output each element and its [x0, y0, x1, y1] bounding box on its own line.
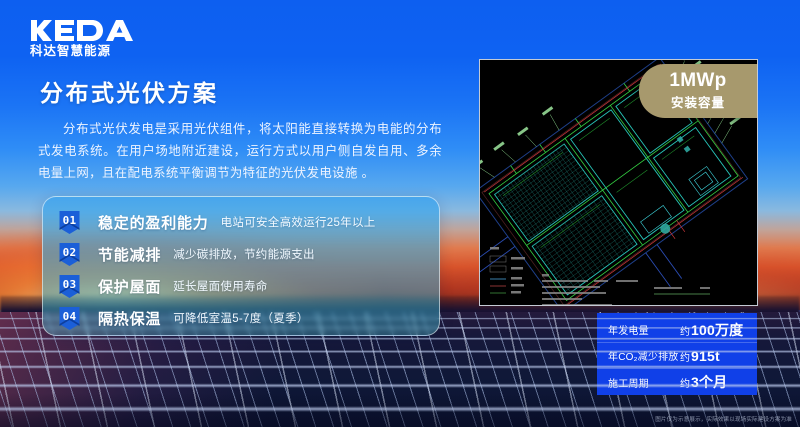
capacity-label: 安装容量 — [671, 92, 725, 111]
stat-number: 3个月 — [691, 372, 727, 392]
ribbon-badge-icon: 01 — [57, 210, 82, 235]
footer-disclaimer: 图片仅为示意展示，实际效果以现场实际建设方案为准 — [655, 415, 792, 423]
brand-logo: 科达智慧能源 — [30, 20, 150, 58]
capacity-badge: 1MWp 安装容量 — [639, 64, 757, 118]
stat-number: 915t — [691, 348, 720, 364]
intro-paragraph: 分布式光伏发电是采用光伏组件，将太阳能直接转换为电能的分布式发电系统。在用户场地… — [38, 118, 442, 184]
stat-prefix: 约 — [680, 323, 690, 338]
feature-number: 02 — [63, 246, 77, 259]
keda-wordmark-icon — [30, 20, 150, 42]
feature-desc: 减少碳排放，节约能源支出 — [173, 246, 315, 262]
ribbon-badge-icon: 04 — [57, 306, 82, 331]
stat-row: 年CO₂减少排放 约 915t — [597, 343, 757, 369]
feature-desc: 延长屋面使用寿命 — [173, 278, 267, 294]
stats-panel: 年发电量 约 100万度 年CO₂减少排放 约 915t 施工周期 约 3个月 — [597, 313, 757, 395]
features-card: 01 稳定的盈利能力 电站可安全高效运行25年以上 02 节能减排 减少碳排放，… — [42, 196, 440, 336]
ribbon-badge-icon: 02 — [57, 242, 82, 267]
stat-value: 约 915t — [680, 348, 720, 364]
ribbon-badge-icon: 03 — [57, 274, 82, 299]
stat-value: 约 3个月 — [680, 372, 727, 392]
stat-label: 年CO₂减少排放 — [608, 348, 680, 363]
stat-row: 施工周期 约 3个月 — [597, 369, 757, 395]
stat-row: 年发电量 约 100万度 — [597, 317, 757, 343]
feature-item-04[interactable]: 04 隔热保温 可降低室温5-7度（夏季） — [43, 302, 439, 334]
stat-prefix: 约 — [680, 375, 690, 390]
stat-value: 约 100万度 — [680, 320, 743, 340]
feature-number: 04 — [63, 310, 77, 323]
feature-item-03[interactable]: 03 保护屋面 延长屋面使用寿命 — [43, 270, 439, 302]
brand-subtitle: 科达智慧能源 — [30, 45, 150, 58]
feature-desc: 电站可安全高效运行25年以上 — [221, 214, 376, 230]
feature-item-02[interactable]: 02 节能减排 减少碳排放，节约能源支出 — [43, 238, 439, 270]
stat-number: 100万度 — [691, 320, 743, 340]
stat-label: 施工周期 — [608, 375, 680, 390]
feature-number: 03 — [63, 278, 77, 291]
feature-title: 保护屋面 — [98, 276, 161, 297]
cad-drawing-panel[interactable]: 1MWp 安装容量 — [479, 59, 758, 306]
feature-title: 隔热保温 — [98, 308, 161, 329]
feature-desc: 可降低室温5-7度（夏季） — [173, 310, 309, 326]
slide-root: 科达智慧能源 分布式光伏方案 分布式光伏发电是采用光伏组件，将太阳能直接转换为电… — [0, 0, 800, 427]
feature-number: 01 — [63, 214, 77, 227]
capacity-value: 1MWp — [669, 71, 726, 91]
stat-label: 年发电量 — [608, 322, 680, 337]
stat-prefix: 约 — [680, 349, 690, 364]
page-title: 分布式光伏方案 — [40, 74, 219, 108]
feature-item-01[interactable]: 01 稳定的盈利能力 电站可安全高效运行25年以上 — [43, 206, 439, 238]
feature-title: 节能减排 — [98, 244, 161, 265]
feature-title: 稳定的盈利能力 — [98, 212, 209, 233]
